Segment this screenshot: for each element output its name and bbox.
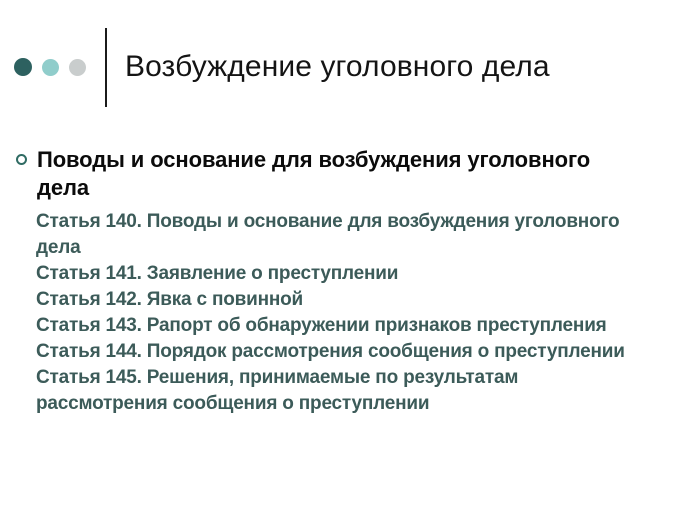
list-item: Статья 140. Поводы и основание для возбу… bbox=[36, 209, 651, 261]
header-decorative-dots bbox=[14, 26, 86, 108]
list-item: Статья 142. Явка с повинной bbox=[36, 287, 651, 313]
hollow-circle-bullet-icon bbox=[16, 154, 27, 165]
page-title: Возбуждение уголовного дела bbox=[125, 50, 550, 84]
slide-body: Поводы и основание для возбуждения уголо… bbox=[0, 146, 700, 417]
list-item: Статья 141. Заявление о преступлении bbox=[36, 261, 651, 287]
dot-light-teal-icon bbox=[42, 59, 59, 76]
header-vertical-divider bbox=[105, 28, 107, 107]
list-item: Статья 143. Рапорт об обнаружении призна… bbox=[36, 313, 651, 339]
articles-list: Статья 140. Поводы и основание для возбу… bbox=[0, 209, 700, 417]
list-item: Статья 145. Решения, принимаемые по резу… bbox=[36, 365, 651, 417]
lead-heading-text: Поводы и основание для возбуждения уголо… bbox=[37, 146, 627, 202]
dot-dark-teal-icon bbox=[14, 58, 32, 76]
presentation-slide: Возбуждение уголовного дела Поводы и осн… bbox=[0, 0, 700, 525]
list-item: Статья 144. Порядок рассмотрения сообщен… bbox=[36, 339, 651, 365]
lead-heading-block: Поводы и основание для возбуждения уголо… bbox=[0, 146, 700, 202]
slide-header: Возбуждение уголовного дела bbox=[0, 26, 700, 108]
dot-gray-icon bbox=[69, 59, 86, 76]
